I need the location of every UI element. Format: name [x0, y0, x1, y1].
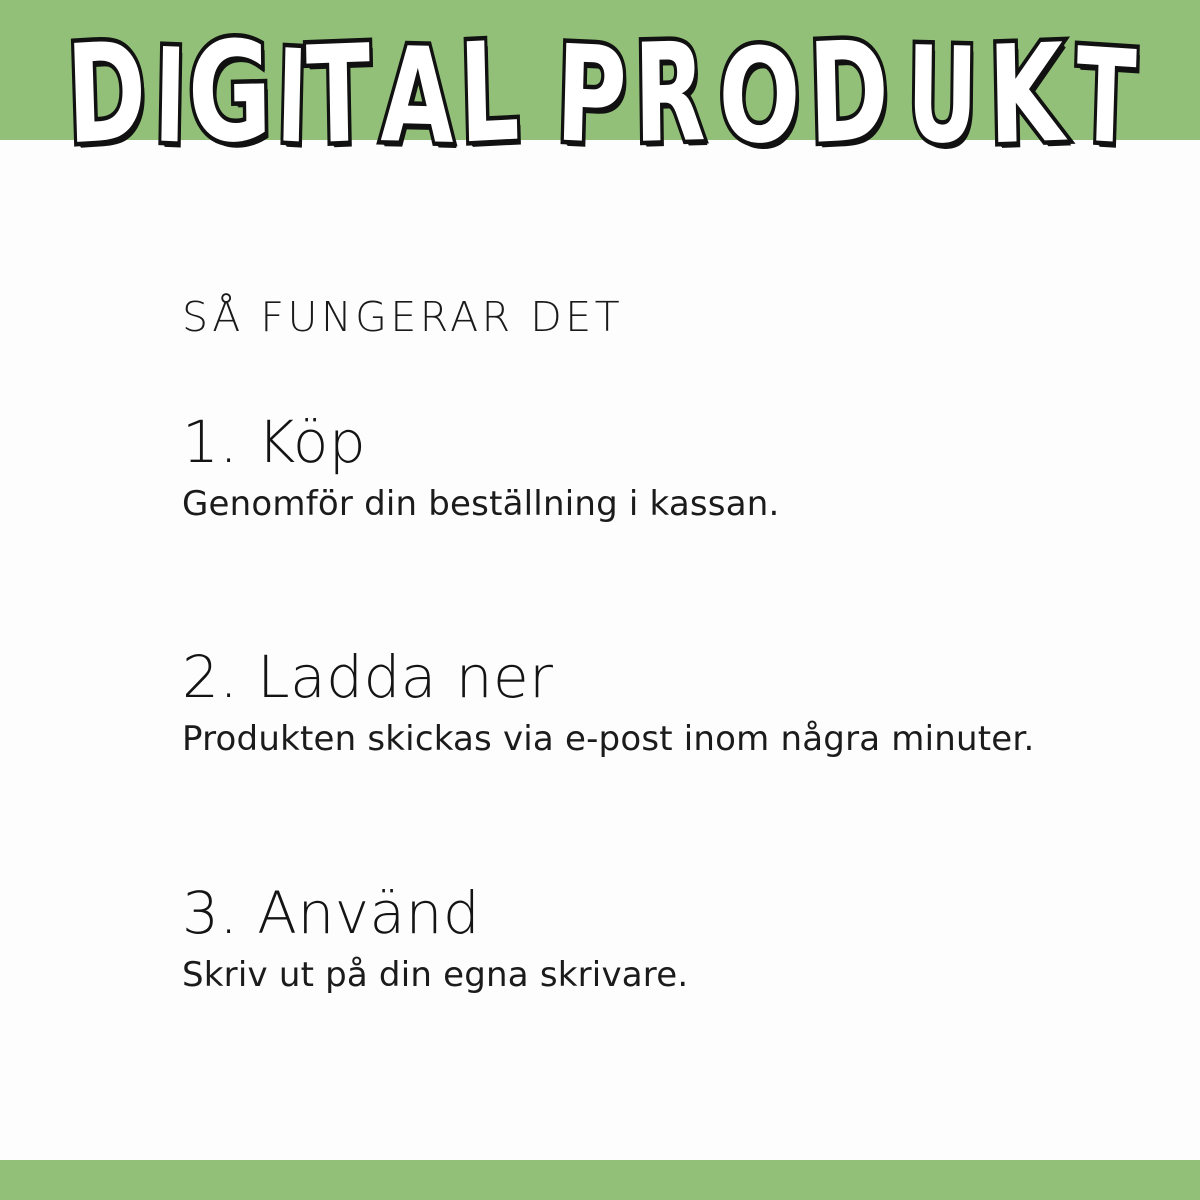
- steps-list: 1. Köp Genomför din beställning i kassan…: [182, 412, 1122, 996]
- section-eyebrow: SÅ FUNGERAR DET: [182, 295, 1122, 340]
- step-description: Genomför din beställning i kassan.: [182, 483, 1122, 526]
- step-title: 3. Använd: [182, 883, 1122, 944]
- step-item: 2. Ladda ner Produkten skickas via e-pos…: [182, 647, 1122, 760]
- step-description: Skriv ut på din egna skrivare.: [182, 954, 1122, 997]
- step-item: 1. Köp Genomför din beställning i kassan…: [182, 412, 1122, 525]
- top-green-banner: [0, 0, 1200, 140]
- poster-canvas: D I G I T A L P R O D U K T SÅ FUNGERAR …: [0, 0, 1200, 1200]
- step-description: Produkten skickas via e-post inom några …: [182, 718, 1122, 761]
- bottom-green-bar: [0, 1160, 1200, 1200]
- content-area: SÅ FUNGERAR DET 1. Köp Genomför din best…: [182, 295, 1122, 996]
- step-title: 2. Ladda ner: [182, 647, 1122, 708]
- step-title: 1. Köp: [182, 412, 1122, 473]
- step-item: 3. Använd Skriv ut på din egna skrivare.: [182, 883, 1122, 996]
